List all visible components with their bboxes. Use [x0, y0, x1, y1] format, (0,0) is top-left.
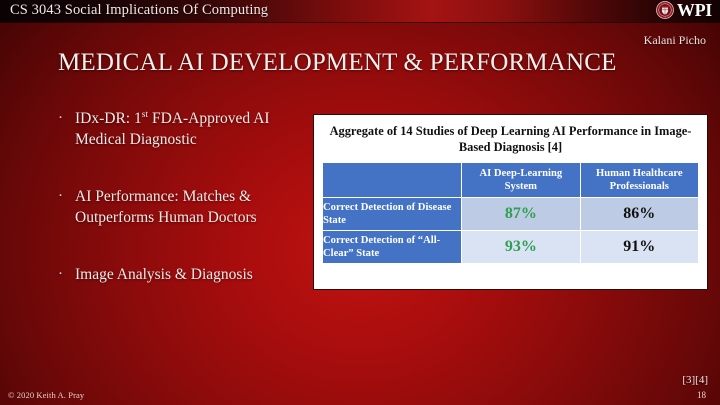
- wpi-logo: WPI: [656, 1, 712, 19]
- bullet-marker: ·: [58, 108, 63, 129]
- cell-human-all-clear-state: 91%: [580, 231, 698, 264]
- row-label-all-clear-state: Correct Detection of “All-Clear” State: [323, 231, 462, 264]
- list-item-text-prefix: Image Analysis & Diagnosis: [75, 266, 253, 283]
- wpi-wordmark: WPI: [677, 1, 712, 19]
- column-header-ai: AI Deep-Learning System: [462, 163, 580, 198]
- copyright-notice: © 2020 Keith A. Pray: [8, 390, 84, 400]
- row-label-disease-state: Correct Detection of Disease State: [323, 198, 462, 231]
- bullet-list: ·IDx-DR: 1st FDA-Approved AI Medical Dia…: [56, 108, 314, 285]
- list-item-text-prefix: AI Performance: Matches & Outperforms Hu…: [75, 188, 257, 226]
- reference-citations: [3][4]: [682, 374, 708, 386]
- bullet-marker: ·: [58, 264, 63, 285]
- presenter-byline: Kalani Picho: [644, 33, 706, 48]
- cell-ai-all-clear-state: 93%: [462, 231, 580, 264]
- table-row: Correct Detection of Disease State 87% 8…: [323, 198, 699, 231]
- performance-table: AI Deep-Learning System Human Healthcare…: [322, 162, 699, 264]
- table-row: Correct Detection of “All-Clear” State 9…: [323, 231, 699, 264]
- table-corner-cell: [323, 163, 462, 198]
- course-title: CS 3043 Social Implications Of Computing: [10, 2, 268, 19]
- page-title: MEDICAL AI DEVELOPMENT & PERFORMANCE: [58, 48, 617, 78]
- performance-table-card: Aggregate of 14 Studies of Deep Learning…: [313, 114, 708, 290]
- top-banner: CS 3043 Social Implications Of Computing…: [0, 0, 720, 22]
- cell-ai-disease-state: 87%: [462, 198, 580, 231]
- column-header-human: Human Healthcare Professionals: [580, 163, 698, 198]
- list-item: ·Image Analysis & Diagnosis: [56, 264, 314, 285]
- slide-page-number: 18: [697, 390, 706, 400]
- table-caption: Aggregate of 14 Studies of Deep Learning…: [322, 124, 699, 155]
- cell-human-disease-state: 86%: [580, 198, 698, 231]
- table-header-row: AI Deep-Learning System Human Healthcare…: [323, 163, 699, 198]
- list-item-text-prefix: IDx-DR: 1: [75, 110, 142, 127]
- bullet-marker: ·: [58, 186, 63, 207]
- list-item: ·IDx-DR: 1st FDA-Approved AI Medical Dia…: [56, 108, 314, 150]
- list-item: ·AI Performance: Matches & Outperforms H…: [56, 186, 314, 228]
- slide-canvas: CS 3043 Social Implications Of Computing…: [0, 0, 720, 405]
- wpi-seal-icon: [656, 1, 674, 19]
